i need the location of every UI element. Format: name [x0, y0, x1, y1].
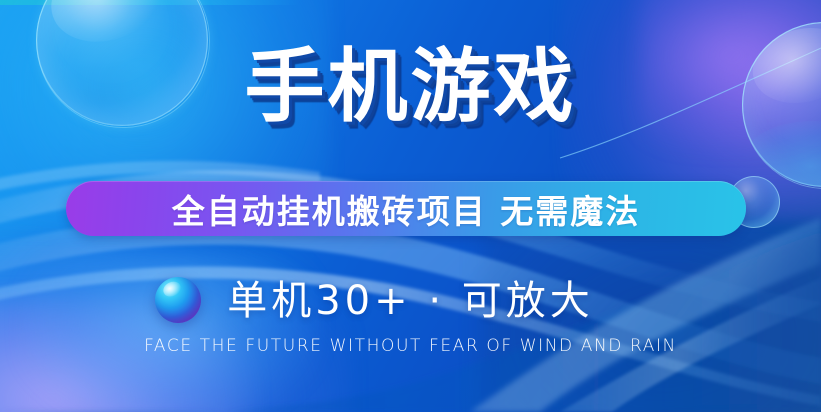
tagline: FACE THE FUTURE WITHOUT FEAR OF WIND AND… [0, 336, 821, 356]
page-title: 手机游戏 [0, 47, 821, 127]
promo-banner: 手机游戏 全自动挂机搬砖项目 无需魔法 单机30+ · 可放大 FACE THE… [0, 0, 821, 412]
highlight-line: 单机30+ · 可放大 [0, 268, 821, 326]
subtitle-pill-label: 全自动挂机搬砖项目 无需魔法 [172, 185, 641, 233]
subtitle-pill: 全自动挂机搬砖项目 无需魔法 [66, 181, 746, 236]
